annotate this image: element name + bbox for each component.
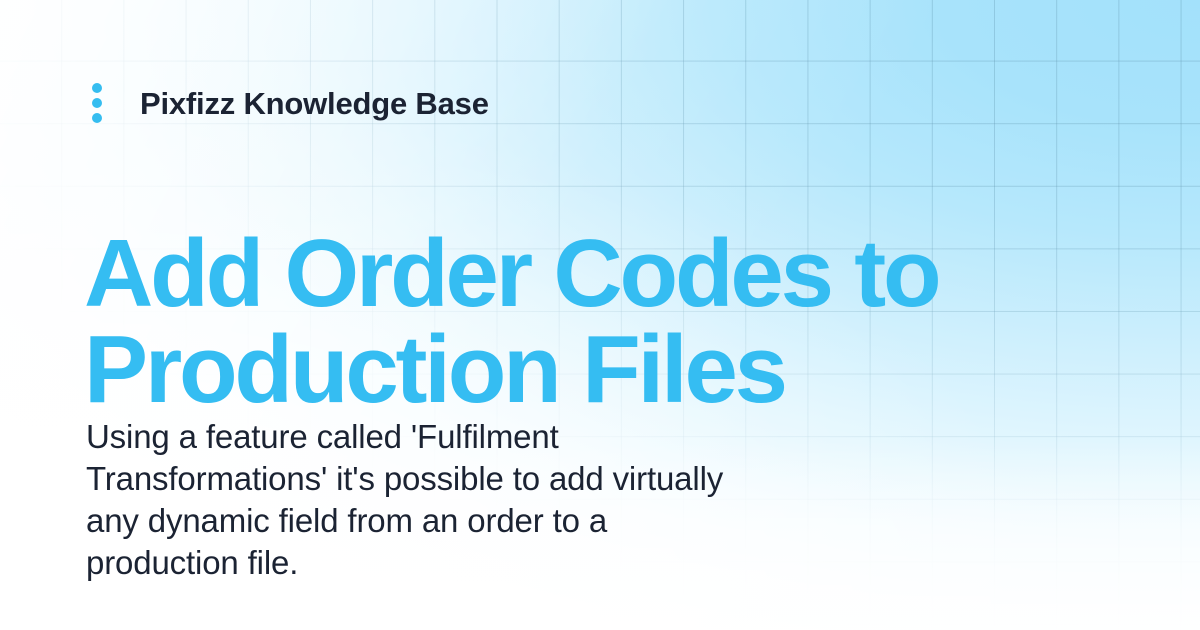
logo-dot-2 (92, 98, 102, 108)
page-description: Using a feature called 'Fulfilment Trans… (86, 416, 886, 584)
brand-name: Pixfizz Knowledge Base (140, 88, 489, 119)
page-title: Add Order Codes to Production Files (84, 226, 1104, 418)
logo-dot-1 (92, 83, 102, 93)
brand-lockup: Pixfizz Knowledge Base (86, 78, 489, 128)
logo-dot-3 (92, 113, 102, 123)
three-dots-vertical-icon (86, 78, 108, 128)
knowledge-base-banner-card: Pixfizz Knowledge Base Add Order Codes t… (0, 0, 1200, 630)
card-content: Pixfizz Knowledge Base Add Order Codes t… (0, 0, 1200, 630)
